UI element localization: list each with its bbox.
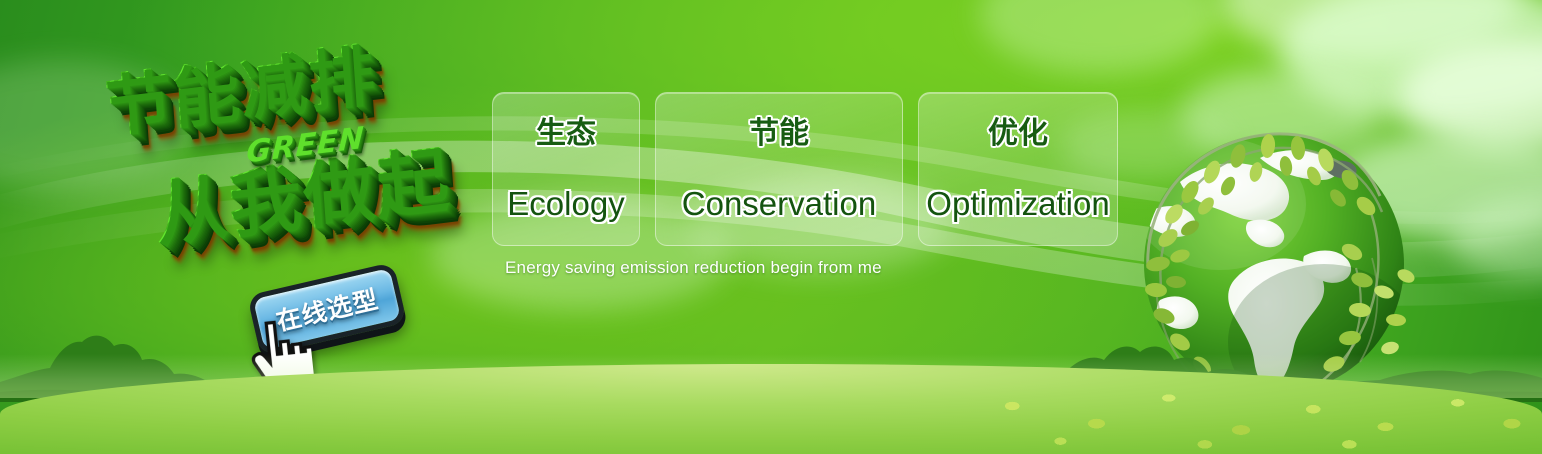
cloud-icon [1450, 200, 1542, 280]
cloud-icon [1220, 0, 1520, 60]
feature-card-cn-label: 优化 [988, 119, 1048, 149]
feature-card-en-label: Optimization [926, 187, 1109, 220]
banner-tagline: Energy saving emission reduction begin f… [505, 258, 882, 278]
cloud-icon [980, 0, 1220, 74]
headline-line-1: 节能减排 [102, 21, 379, 150]
cloud-icon [1280, 0, 1542, 120]
grass-field [0, 364, 1542, 454]
feature-card-cn-label: 节能 [749, 119, 809, 149]
online-selection-button-label: 在线选型 [272, 280, 381, 338]
headline-3d: 节能减排 GREEN 从我做起 [96, 34, 496, 274]
feature-card-en-label: Conservation [682, 187, 876, 220]
feature-card-cn-label: 生态 [536, 119, 596, 149]
online-selection-button-wrap[interactable]: 在线选型 [247, 262, 407, 356]
feature-card-optimization[interactable]: 优化 Optimization [918, 92, 1118, 246]
feature-card-list: 生态 Ecology 节能 Conservation 优化 Optimizati… [492, 92, 1118, 246]
feature-card-en-label: Ecology [507, 187, 624, 220]
headline-green-word: GREEN [246, 121, 366, 171]
feature-card-ecology[interactable]: 生态 Ecology [492, 92, 640, 246]
online-selection-button[interactable]: 在线选型 [247, 262, 407, 356]
green-energy-banner: 节能减排 GREEN 从我做起 在线选型 生态 Ecology 节能 Conse… [0, 0, 1542, 454]
headline-line-2: 从我做起 [151, 120, 452, 261]
cloud-icon [0, 60, 190, 190]
feature-card-conservation[interactable]: 节能 Conservation [655, 92, 903, 246]
